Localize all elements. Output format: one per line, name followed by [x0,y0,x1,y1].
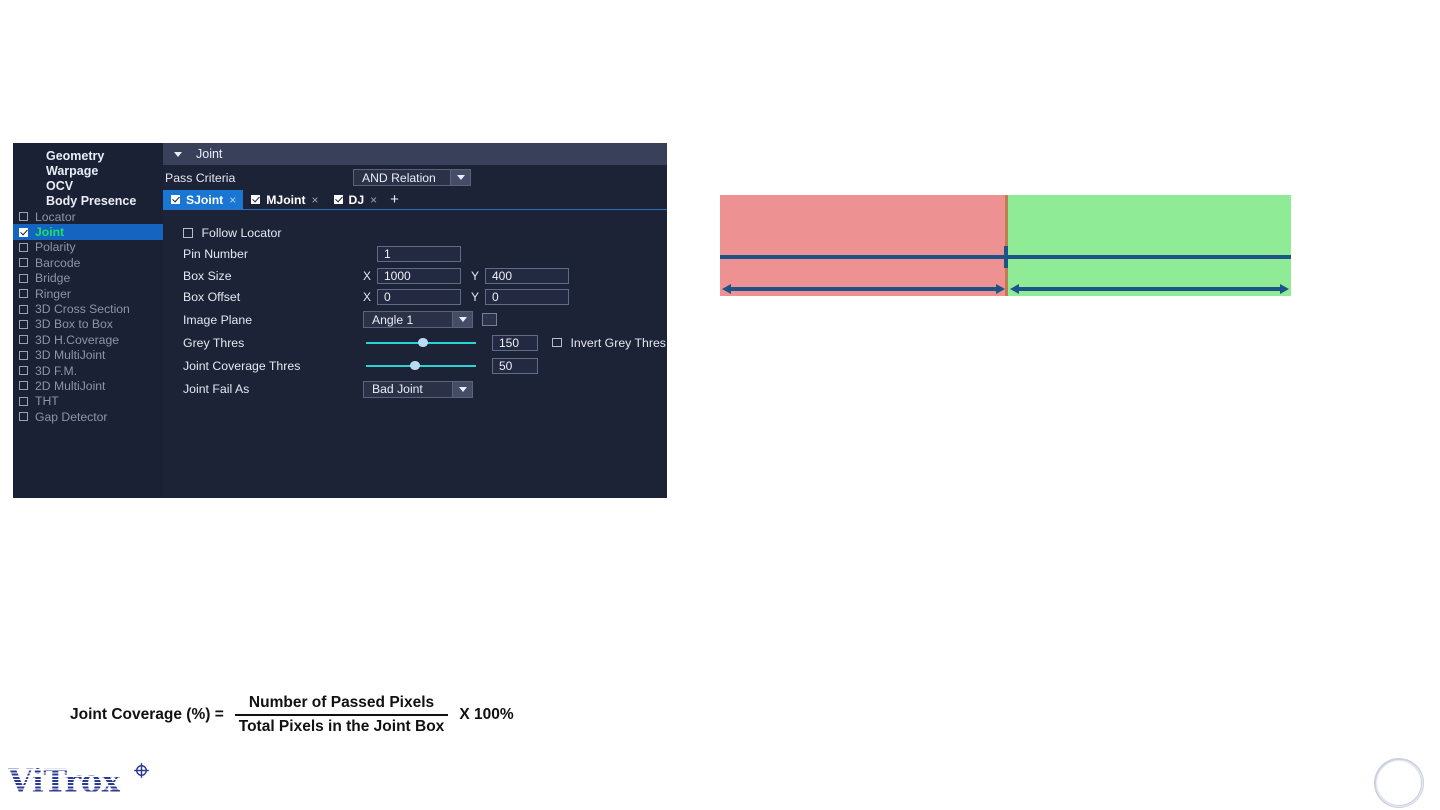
box-offset-y-input[interactable]: 0 [485,289,569,305]
close-icon[interactable]: × [370,193,377,207]
close-icon[interactable]: × [229,193,236,207]
joint-center-tick [1004,246,1008,268]
image-plane-row: Image Plane Angle 1 [183,308,667,331]
sidebar-item-label: Bridge [35,271,70,285]
tab-mjoint[interactable]: MJoint × [243,190,325,209]
vitrox-logo: ViTrox [8,764,120,804]
box-offset-y-axis-label: Y [471,290,485,304]
slider-thumb[interactable] [418,338,428,348]
box-size-y-axis-label: Y [471,269,485,283]
add-tab-button[interactable]: + [384,192,405,207]
sidebar-heading-warpage: Warpage [13,164,163,179]
sidebar-item-polarity[interactable]: Polarity [13,240,163,255]
tab-label: MJoint [266,193,305,207]
joint-fail-as-value: Bad Joint [363,381,452,398]
joint-parameter-form: Follow Locator Pin Number 1 Box Size X 1… [163,210,667,401]
checkbox-icon[interactable] [552,338,562,348]
sidebar-item-3d-fm[interactable]: 3D F.M. [13,363,163,378]
vitrox-wordmark: ViTrox [8,764,120,798]
checkbox-checked-icon[interactable] [19,228,28,237]
tab-label: SJoint [186,193,223,207]
crosshair-target-icon [133,762,150,779]
inspection-tool-window: Geometry Warpage OCV Body Presence Locat… [13,143,667,498]
checkbox-icon[interactable] [19,335,28,344]
tab-dj[interactable]: DJ × [326,190,385,209]
sidebar-item-3d-cross-section[interactable]: 3D Cross Section [13,301,163,316]
inspection-type-sidebar: Geometry Warpage OCV Body Presence Locat… [13,143,163,498]
sidebar-item-label: Ringer [35,287,71,301]
box-size-label: Box Size [183,269,363,283]
chevron-down-icon[interactable] [452,381,473,398]
joint-settings-content: Joint Pass Criteria AND Relation SJoint … [163,143,667,498]
pin-number-input[interactable]: 1 [377,246,461,262]
sidebar-item-label: 3D F.M. [35,364,77,378]
checkbox-icon[interactable] [19,397,28,406]
invert-grey-thres-label: Invert Grey Thres [571,336,666,350]
sidebar-heading-body-presence: Body Presence [13,194,163,209]
checkbox-icon[interactable] [19,320,28,329]
checkbox-icon[interactable] [19,412,28,421]
joint-fail-as-label: Joint Fail As [183,382,363,396]
formula-left-hand-side: Joint Coverage (%) = [70,706,224,724]
arrow-shaft [729,287,998,291]
sidebar-item-label: Locator [35,210,76,224]
fail-region-measure-arrow [722,283,1005,295]
box-size-row: Box Size X 1000 Y 400 [183,265,667,287]
checkbox-icon[interactable] [183,228,193,238]
sidebar-item-label: 3D Cross Section [35,302,130,316]
tab-sjoint[interactable]: SJoint × [163,190,243,209]
joint-fail-as-row: Joint Fail As Bad Joint [183,377,667,401]
box-offset-label: Box Offset [183,290,363,304]
joint-coverage-thres-label: Joint Coverage Thres [183,359,363,373]
failed-pixels-region [720,195,1006,296]
pin-number-label: Pin Number [183,247,363,261]
grey-thres-input[interactable]: 150 [492,335,538,351]
joint-tab-strip: SJoint × MJoint × DJ × + [163,190,667,210]
chevron-down-icon[interactable] [450,169,471,186]
checkbox-icon[interactable] [19,212,28,221]
box-offset-row: Box Offset X 0 Y 0 [183,287,667,309]
checkbox-icon[interactable] [19,366,28,375]
sidebar-item-label: 3D H.Coverage [35,333,119,347]
image-preview-icon[interactable] [482,313,497,326]
checkbox-checked-icon[interactable] [251,195,260,204]
sidebar-heading-ocv: OCV [13,179,163,194]
close-icon[interactable]: × [312,193,319,207]
arrow-head-left-icon [722,284,731,294]
grey-thres-label: Grey Thres [183,336,363,350]
checkbox-checked-icon[interactable] [171,195,180,204]
formula-numerator: Number of Passed Pixels [245,694,438,714]
sidebar-item-locator[interactable]: Locator [13,209,163,224]
checkbox-icon[interactable] [19,258,28,267]
pass-criteria-value: AND Relation [353,169,450,186]
sidebar-item-label: Polarity [35,240,76,254]
joint-coverage-thres-slider[interactable] [366,358,476,374]
pin-number-row: Pin Number 1 [183,244,667,266]
chevron-down-icon[interactable] [174,152,182,157]
checkbox-icon[interactable] [19,381,28,390]
joint-coverage-diagram [720,195,1291,296]
pass-criteria-row: Pass Criteria AND Relation [163,165,667,190]
sidebar-item-2d-multijoint[interactable]: 2D MultiJoint [13,378,163,393]
grey-thres-slider[interactable] [366,335,476,351]
decorative-ring-watermark [1374,758,1424,808]
sidebar-heading-geometry: Geometry [13,149,163,164]
sidebar-item-label: THT [35,394,59,408]
checkbox-icon[interactable] [19,305,28,314]
joint-fail-as-select[interactable]: Bad Joint [363,381,473,398]
sidebar-item-barcode[interactable]: Barcode [13,255,163,270]
box-size-x-input[interactable]: 1000 [377,268,461,284]
sidebar-item-joint[interactable]: Joint [13,224,163,239]
sidebar-item-gap-detector[interactable]: Gap Detector [13,409,163,424]
formula-fraction: Number of Passed Pixels Total Pixels in … [235,694,449,736]
pass-criteria-label: Pass Criteria [165,171,353,185]
sidebar-item-label: 2D MultiJoint [35,379,105,393]
sidebar-item-bridge[interactable]: Bridge [13,271,163,286]
sidebar-item-3d-multijoint[interactable]: 3D MultiJoint [13,348,163,363]
box-size-y-input[interactable]: 400 [485,268,569,284]
arrow-head-right-icon [996,284,1005,294]
pass-criteria-select[interactable]: AND Relation [353,169,471,186]
joint-coverage-formula: Joint Coverage (%) = Number of Passed Pi… [70,694,514,736]
sidebar-item-label: Barcode [35,256,80,270]
sidebar-item-label: 3D MultiJoint [35,348,105,362]
sidebar-item-label: 3D Box to Box [35,317,113,331]
panel-header[interactable]: Joint [163,143,667,165]
box-size-x-axis-label: X [363,269,377,283]
sidebar-item-label: Gap Detector [35,410,107,424]
follow-locator-row[interactable]: Follow Locator [183,222,667,244]
page-title: Joint [196,147,222,161]
pass-region-measure-arrow [1010,283,1289,295]
sidebar-item-label: Joint [35,225,64,239]
checkbox-checked-icon[interactable] [334,195,343,204]
passed-pixels-region [1008,195,1291,296]
sidebar-item-ringer[interactable]: Ringer [13,286,163,301]
image-plane-label: Image Plane [183,313,363,327]
checkbox-icon[interactable] [19,289,28,298]
tab-label: DJ [349,193,365,207]
follow-locator-label: Follow Locator [202,226,282,240]
checkbox-icon[interactable] [19,274,28,283]
box-offset-x-axis-label: X [363,290,377,304]
joint-coverage-thres-input[interactable]: 50 [492,358,538,374]
sidebar-item-tht[interactable]: THT [13,394,163,409]
image-plane-value: Angle 1 [363,311,452,328]
arrow-shaft [1017,287,1282,291]
formula-denominator: Total Pixels in the Joint Box [235,716,449,736]
arrow-head-right-icon [1280,284,1289,294]
sidebar-item-3d-h-coverage[interactable]: 3D H.Coverage [13,332,163,347]
sidebar-item-3d-box-to-box[interactable]: 3D Box to Box [13,317,163,332]
arrow-head-left-icon [1010,284,1019,294]
joint-coverage-thres-row: Joint Coverage Thres 50 [183,354,667,377]
formula-right-hand-side: X 100% [459,706,513,724]
chevron-down-icon[interactable] [452,311,473,328]
checkbox-icon[interactable] [19,243,28,252]
grey-thres-row: Grey Thres 150 Invert Grey Thres [183,331,667,354]
checkbox-icon[interactable] [19,351,28,360]
image-plane-select[interactable]: Angle 1 [363,311,473,328]
box-offset-x-input[interactable]: 0 [377,289,461,305]
slider-thumb[interactable] [410,361,420,371]
slider-track[interactable] [366,365,476,367]
